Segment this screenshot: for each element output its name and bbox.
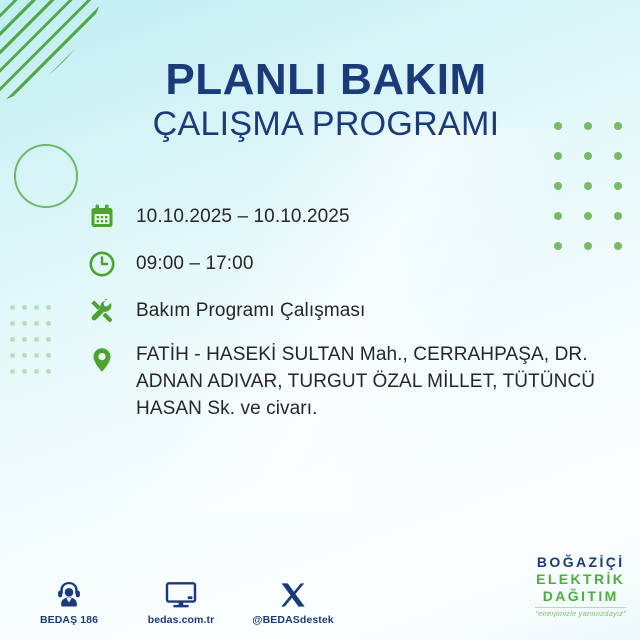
info-text-work-type: Bakım Programı Çalışması xyxy=(136,294,365,325)
logo-line-dagitim: DAĞITIM xyxy=(535,588,626,605)
info-text-time: 09:00 – 17:00 xyxy=(136,247,254,278)
circle-outline-decoration xyxy=(14,144,78,208)
location-pin-icon xyxy=(88,341,122,377)
contact-website[interactable]: bedas.com.tr xyxy=(138,575,224,626)
contact-label-x-social: @BEDASdestek xyxy=(252,614,333,626)
info-row-location: FATİH - HASEKİ SULTAN Mah., CERRAHPAŞA, … xyxy=(88,341,604,423)
x-twitter-icon xyxy=(279,575,307,609)
contact-label-call-center: BEDAŞ 186 xyxy=(40,614,98,626)
tools-icon xyxy=(88,294,122,328)
monitor-icon xyxy=(165,575,197,609)
contact-label-website: bedas.com.tr xyxy=(148,614,215,626)
info-row-work-type: Bakım Programı Çalışması xyxy=(88,294,604,328)
info-text-date: 10.10.2025 – 10.10.2025 xyxy=(136,200,350,231)
dot-grid-left-decoration xyxy=(10,305,58,385)
planned-maintenance-poster: PLANLI BAKIM ÇALIŞMA PROGRAMI 10.10 xyxy=(0,0,640,640)
contact-call-center[interactable]: BEDAŞ 186 xyxy=(26,575,112,626)
clock-icon xyxy=(88,247,122,281)
info-row-date: 10.10.2025 – 10.10.2025 xyxy=(88,200,604,234)
contact-x-social[interactable]: @BEDASdestek xyxy=(250,575,336,626)
info-row-time: 09:00 – 17:00 xyxy=(88,247,604,281)
logo-tagline: "enerjimizle yanınızdayız" xyxy=(535,607,626,618)
page-title: PLANLI BAKIM ÇALIŞMA PROGRAMI xyxy=(0,58,640,148)
headset-support-icon xyxy=(54,575,84,609)
title-subtitle: ÇALIŞMA PROGRAMI xyxy=(0,102,640,148)
title-main: PLANLI BAKIM xyxy=(0,58,640,102)
info-text-location: FATİH - HASEKİ SULTAN Mah., CERRAHPAŞA, … xyxy=(136,341,604,423)
footer: BEDAŞ 186 bedas.com.tr xyxy=(0,544,640,640)
logo-line-bogazici: BOĞAZİÇİ xyxy=(535,554,626,571)
footer-contacts: BEDAŞ 186 bedas.com.tr xyxy=(26,575,336,626)
logo-line-elektrik: ELEKTRİK xyxy=(535,571,626,588)
calendar-icon xyxy=(88,200,122,234)
maintenance-details-list: 10.10.2025 – 10.10.2025 09:00 – 17:00 Ba… xyxy=(88,200,604,436)
bedas-logo: BOĞAZİÇİ ELEKTRİK DAĞITIM "enerjimizle y… xyxy=(535,554,626,618)
